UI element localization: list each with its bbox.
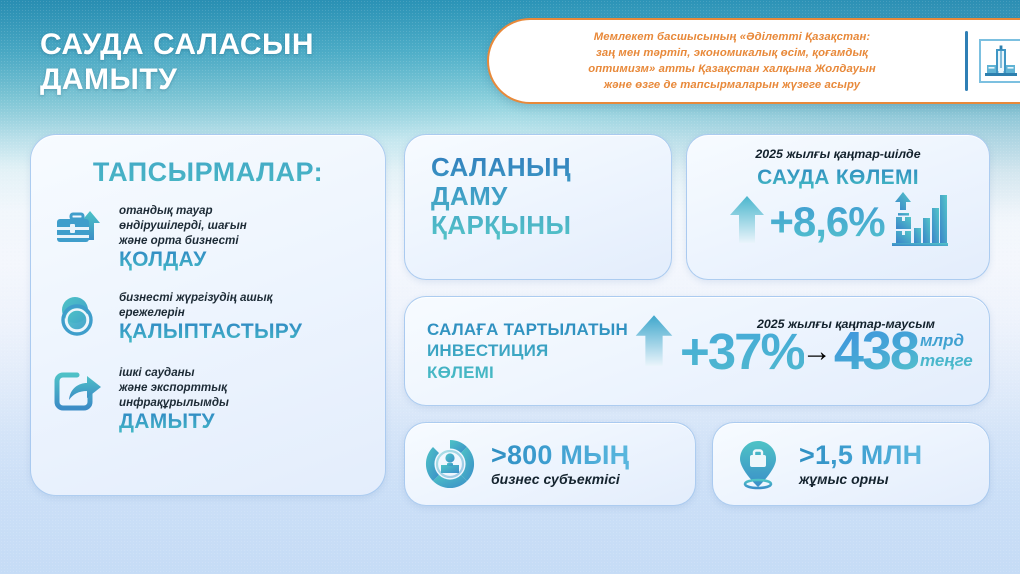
trade-volume-card: 2025 жылғы қаңтар-шілде САУДА КӨЛЕМІ +8,… (686, 134, 990, 280)
right-arrow-icon: → (802, 335, 832, 369)
trade-value: +8,6% (769, 198, 884, 246)
trade-period: 2025 жылғы қаңтар-шілде (687, 135, 989, 161)
trade-label: САУДА КӨЛЕМІ (687, 166, 989, 190)
growth-card: САЛАНЫҢ ДАМУ ҚАРҚЫНЫ (404, 134, 672, 280)
task-keyword: ҚОЛДАУ (119, 249, 365, 272)
business-person-circle-icon (423, 437, 477, 491)
jobs-card: >1,5 МЛН жұмыс орны (712, 422, 990, 506)
job-location-pin-icon (731, 437, 785, 491)
task-description: ішкі сауданы және экспорттық инфрақұрылы… (119, 365, 365, 410)
investment-label: САЛАҒА ТАРТЫЛАТЫН ИНВЕСТИЦИЯ КӨЛЕМІ (427, 319, 628, 383)
tasks-card: ТАПСЫРМАЛАР: отандық тауар өндірушілерді… (30, 134, 386, 496)
task-keyword: ҚАЛЫПТАСТЫРУ (119, 321, 365, 344)
task-item-support: отандық тауар өндірушілерді, шағын және … (53, 202, 365, 272)
presidential-address-banner: Мемлекет басшысының «Әділетті Қазақстан:… (487, 18, 1020, 104)
stat-value: >800 МЫҢ (491, 441, 629, 469)
task-item-rules: бизнесті жүргізудің ашық ережелерін ҚАЛЫ… (53, 289, 365, 347)
investment-unit: млрд теңге (920, 331, 973, 370)
banner-text: Мемлекет басшысының «Әділетті Қазақстан:… (489, 29, 965, 93)
investment-period: 2025 жылғы қаңтар-маусым (757, 317, 935, 331)
overlapping-circles-icon (53, 293, 107, 347)
boxes-bar-chart-icon (887, 188, 949, 255)
stat-value: >1,5 МЛН (799, 441, 922, 469)
growth-title: САЛАНЫҢ ДАМУ ҚАРҚЫНЫ (405, 135, 671, 240)
business-entities-card: >800 МЫҢ бизнес субъектісі (404, 422, 696, 506)
stat-caption: жұмыс орны (799, 471, 922, 487)
tasks-title: ТАПСЫРМАЛАР: (31, 135, 385, 188)
page-title: САУДА САЛАСЫН ДАМЫТУ (40, 28, 314, 98)
stat-caption: бизнес субъектісі (491, 471, 629, 487)
task-item-develop: ішкі сауданы және экспорттық инфрақұрылы… (53, 364, 365, 434)
task-description: бизнесті жүргізудің ашық ережелерін (119, 290, 365, 320)
export-share-arrow-icon (53, 368, 107, 422)
government-building-icon (968, 39, 1020, 83)
investment-card: 2025 жылғы қаңтар-маусым САЛАҒА ТАРТЫЛАТ… (404, 296, 990, 406)
up-arrow-icon (632, 312, 676, 373)
up-arrow-icon (727, 193, 767, 250)
tasks-list: отандық тауар өндірушілерді, шағын және … (31, 188, 385, 434)
task-keyword: ДАМЫТУ (119, 411, 365, 434)
task-description: отандық тауар өндірушілерді, шағын және … (119, 203, 365, 248)
briefcase-up-arrow-icon (53, 206, 107, 260)
